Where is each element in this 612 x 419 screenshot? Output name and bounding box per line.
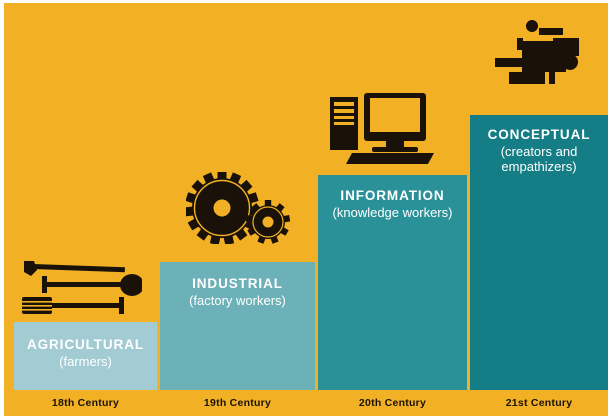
bar-title-industrial: INDUSTRIAL xyxy=(192,262,283,292)
page-margin-right xyxy=(608,0,612,419)
bar-agricultural: AGRICULTURAL (farmers) xyxy=(14,322,157,390)
bar-subtitle-information: (knowledge workers) xyxy=(327,205,459,221)
bar-subtitle-agricultural: (farmers) xyxy=(53,354,118,370)
century-axis: 18th Century 19th Century 20th Century 2… xyxy=(0,390,612,416)
bar-information: INFORMATION (knowledge workers) xyxy=(318,175,467,390)
conceptual-shapes-icon xyxy=(489,20,581,89)
bar-title-information: INFORMATION xyxy=(340,175,444,204)
bar-title-conceptual: CONCEPTUAL xyxy=(488,115,591,143)
bar-subtitle-industrial: (factory workers) xyxy=(183,293,292,309)
bar-conceptual: CONCEPTUAL (creators and empathizers) xyxy=(470,115,608,390)
axis-label-18th-century: 18th Century xyxy=(14,397,157,409)
bar-industrial: INDUSTRIAL (factory workers) xyxy=(160,262,315,390)
bar-title-agricultural: AGRICULTURAL xyxy=(27,322,144,353)
bar-subtitle-conceptual: (creators and empathizers) xyxy=(470,144,608,176)
workforce-evolution-infographic: AGRICULTURAL (farmers) INDUSTRIAL (facto… xyxy=(0,0,612,419)
axis-label-19th-century: 19th Century xyxy=(160,397,315,409)
page-margin-top xyxy=(0,0,612,3)
farm-tools-icon xyxy=(18,258,142,323)
axis-label-20th-century: 20th Century xyxy=(318,397,467,409)
gears-icon xyxy=(186,172,291,249)
desktop-computer-icon xyxy=(328,93,436,170)
axis-label-21st-century: 21st Century xyxy=(470,397,608,409)
page-margin-left xyxy=(0,0,4,419)
